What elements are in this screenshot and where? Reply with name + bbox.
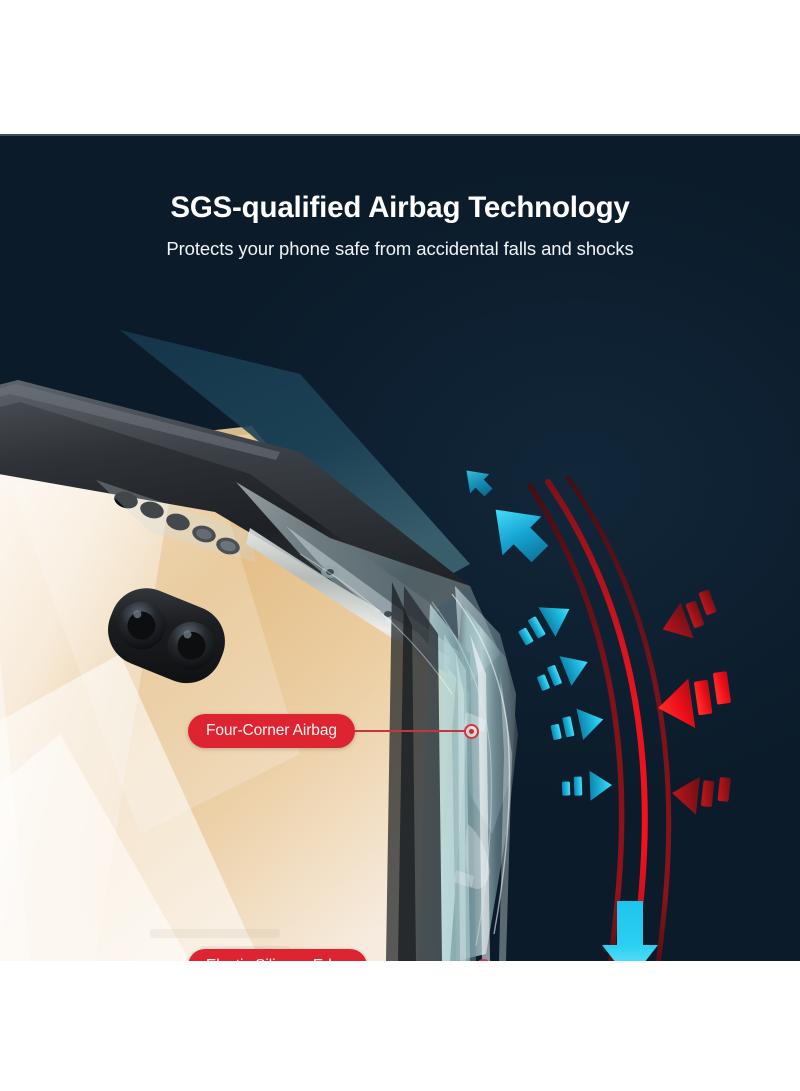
callout-four-corner-airbag: Four-Corner Airbag (188, 714, 479, 748)
page-subtitle: Protects your phone safe from accidental… (0, 238, 800, 260)
hero-panel: SGS-qualified Airbag Technology Protects… (0, 134, 800, 961)
callout-elastic-silicone-edge: Elastic Silicone Edge (188, 949, 491, 961)
callout-label: Elastic Silicone Edge (206, 957, 349, 961)
page-frame: SGS-qualified Airbag Technology Protects… (0, 0, 800, 1091)
leader-line (355, 730, 465, 732)
callout-pill: Four-Corner Airbag (188, 714, 355, 748)
callout-pill: Elastic Silicone Edge (188, 949, 367, 961)
callout-label: Four-Corner Airbag (206, 722, 337, 740)
page-title: SGS-qualified Airbag Technology (0, 192, 800, 224)
ring-dot-marker-icon (464, 724, 479, 739)
ring-dot-marker-icon (476, 959, 491, 962)
heading-block: SGS-qualified Airbag Technology Protects… (0, 192, 800, 261)
